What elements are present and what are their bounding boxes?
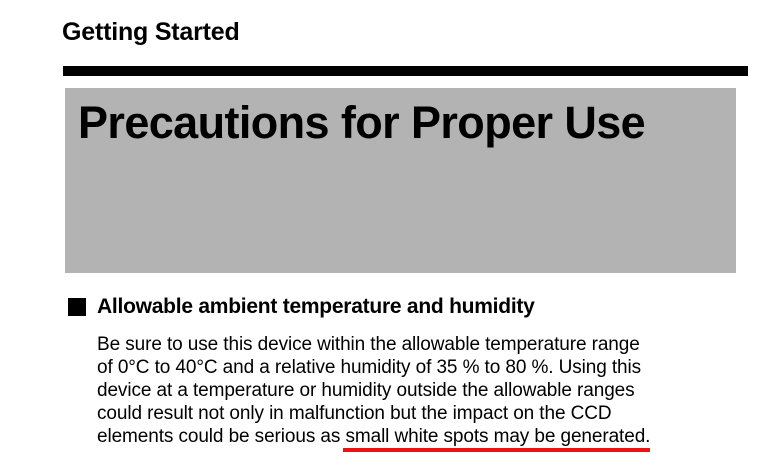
body-line-final-prefix: elements could be serious as [97,426,345,447]
document-page: Getting Started Precautions for Proper U… [0,0,757,471]
filled-square-bullet-icon [68,298,86,316]
body-line: could result not only in malfunction but… [97,402,747,425]
body-line: Be sure to use this device within the al… [97,333,747,356]
running-head-title: Getting Started [62,17,240,47]
section-heading: Allowable ambient temperature and humidi… [68,296,535,317]
section-body-text: Be sure to use this device within the al… [97,333,747,448]
red-underlined-phrase: small white spots may be generated. [345,425,650,448]
banner-title: Precautions for Proper Use [78,97,645,149]
body-line-final: elements could be serious as small white… [97,425,747,448]
body-line: of 0°C to 40°C and a relative humidity o… [97,356,747,379]
precautions-banner: Precautions for Proper Use [65,88,736,273]
body-line: device at a temperature or humidity outs… [97,379,747,402]
header-divider-rule [63,66,748,76]
section-heading-label: Allowable ambient temperature and humidi… [97,296,535,317]
